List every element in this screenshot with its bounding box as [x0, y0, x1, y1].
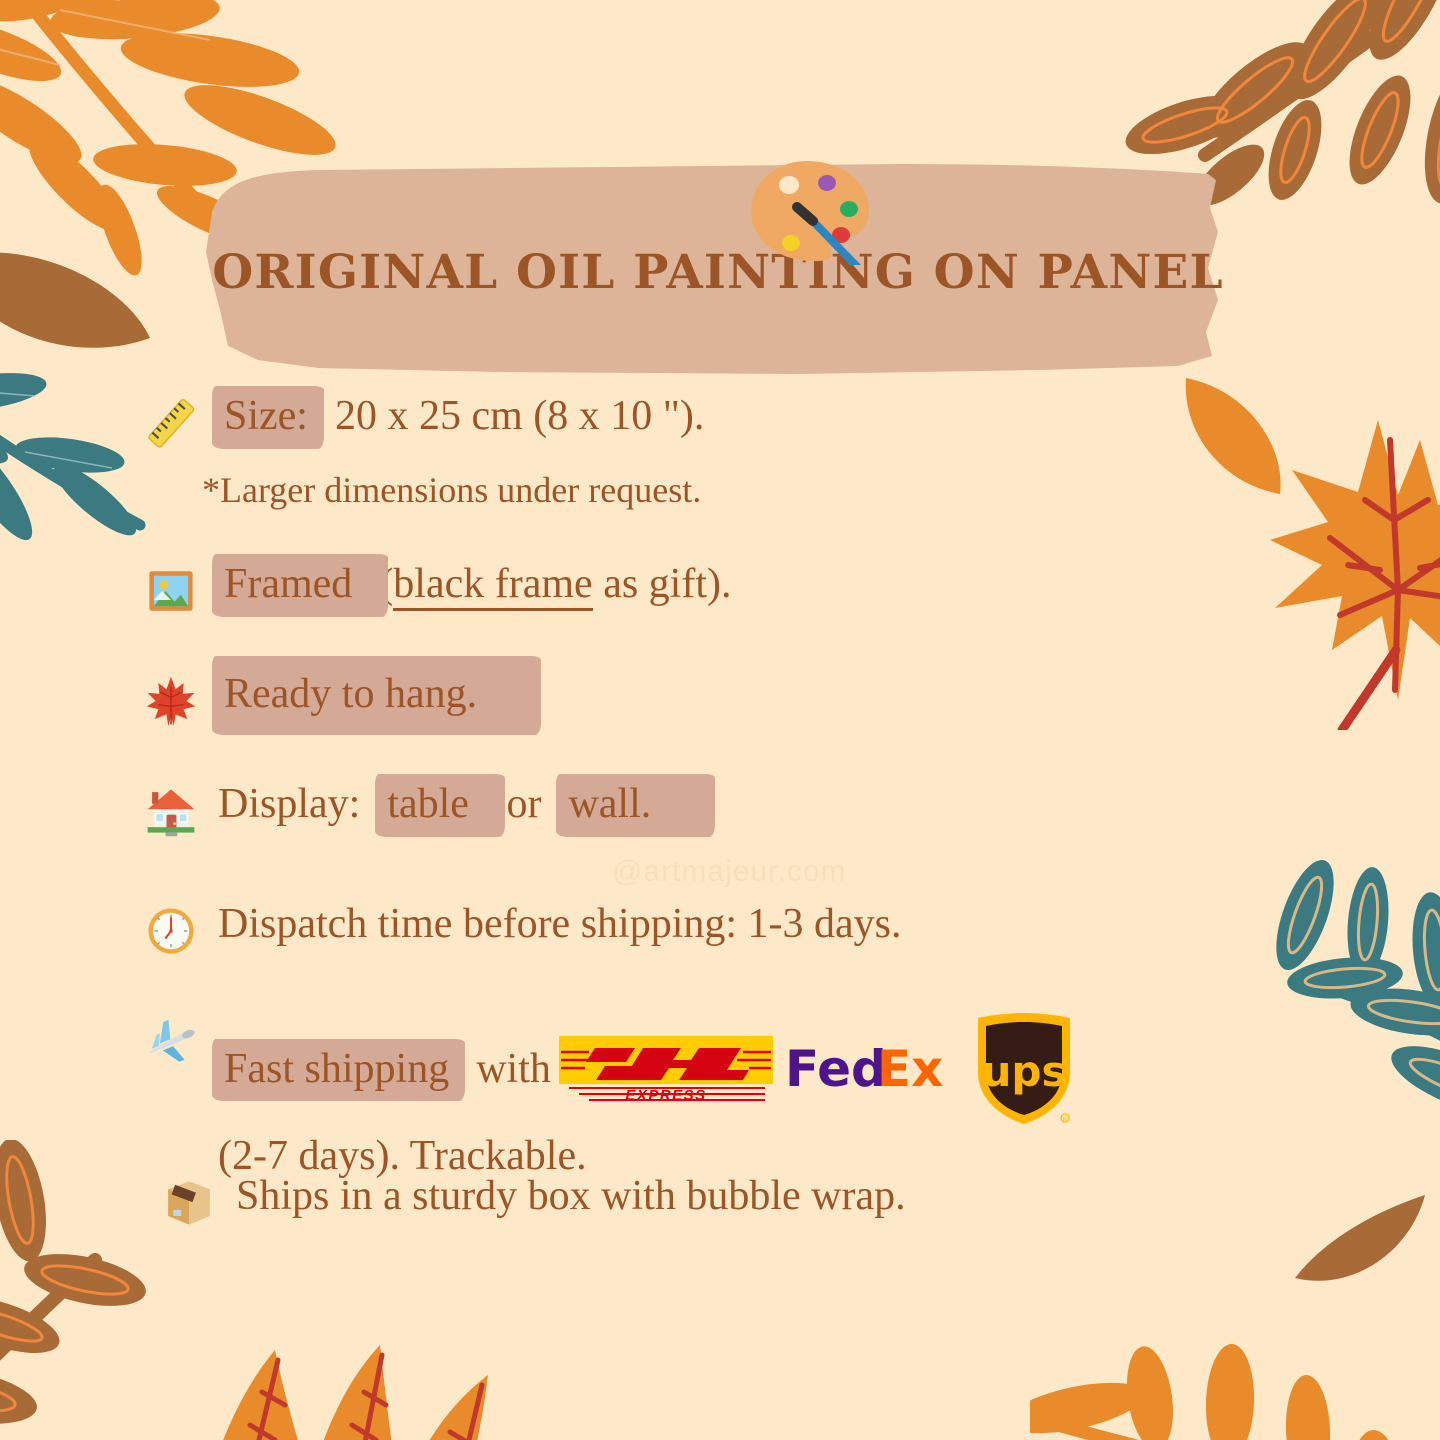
- list-item-size: Size: 20 x 25 cm (8 x 10 ").: [0, 392, 704, 454]
- fast-shipping-highlight: Fast shipping: [218, 1045, 455, 1094]
- note-spacer-icon: [140, 470, 202, 532]
- framed-tail: as gift).: [593, 561, 732, 607]
- framed-text: Framed (black frame as gift).: [202, 560, 731, 609]
- svg-text:R: R: [1063, 1116, 1067, 1123]
- list-item-framed: Framed (black frame as gift).: [0, 560, 731, 622]
- title-banner: ORIGINAL OIL PAINTING ON PANEL: [198, 160, 1238, 385]
- leaf-branch-orange-bottom-right: [1030, 1290, 1440, 1440]
- list-item-size-note: *Larger dimensions under request.: [0, 470, 701, 532]
- leaf-orange-right-small: [1168, 372, 1298, 502]
- framed-picture-icon: [140, 560, 202, 622]
- leaf-brown-left: [0, 240, 175, 380]
- fedex-logo: Fed Ex: [783, 1038, 961, 1100]
- ups-logo: ups R: [971, 1010, 1077, 1128]
- dispatch-text: Dispatch time before shipping: 1-3 days.: [202, 900, 902, 949]
- watermark-text: @artmajeur.com: [612, 855, 847, 889]
- packaging-text: Ships in a sturdy box with bubble wrap.: [220, 1172, 906, 1221]
- display-option-table: table: [381, 780, 475, 829]
- svg-text:ups: ups: [981, 1047, 1066, 1096]
- list-item-display: Display: table or wall.: [0, 780, 657, 842]
- clock-icon: [140, 900, 202, 962]
- size-value: 20 x 25 cm (8 x 10 ").: [335, 393, 704, 439]
- carrier-logos: EXPRESS Fed Ex ups: [559, 1010, 1077, 1128]
- ready-to-hang-label: Ready to hang.: [218, 670, 483, 719]
- poster-canvas: ORIGINAL OIL PAINTING ON PANEL @artmajeu…: [0, 0, 1440, 1440]
- artist-palette-icon: [745, 155, 875, 265]
- package-icon: [158, 1172, 220, 1234]
- display-option-wall: wall.: [562, 780, 657, 829]
- list-item-ready-to-hang: Ready to hang.: [0, 670, 483, 732]
- ready-to-hang-text: Ready to hang.: [202, 670, 483, 719]
- svg-text:EXPRESS: EXPRESS: [625, 1087, 706, 1104]
- size-label: Size:: [218, 392, 314, 441]
- framed-underlined: black frame: [393, 561, 592, 611]
- leaf-brown-bottom-right: [1290, 1190, 1430, 1300]
- airplane-icon: [140, 1010, 202, 1072]
- ruler-icon: [140, 392, 202, 454]
- svg-text:Fed: Fed: [785, 1040, 887, 1098]
- fast-shipping-text: Fast shipping with: [202, 1010, 1318, 1181]
- maple-leaf-bottom-center: [180, 1320, 500, 1440]
- page-title: ORIGINAL OIL PAINTING ON PANEL: [198, 160, 1238, 385]
- display-text: Display: table or wall.: [202, 780, 657, 829]
- list-item-fast-shipping: Fast shipping with: [0, 1010, 1318, 1181]
- list-item-dispatch-time: Dispatch time before shipping: 1-3 days.: [0, 900, 902, 962]
- maple-leaf-icon: [140, 670, 202, 732]
- svg-text:Ex: Ex: [877, 1040, 943, 1098]
- fast-shipping-with: with: [476, 1045, 551, 1094]
- list-item-packaging: Ships in a sturdy box with bubble wrap.: [0, 1172, 906, 1234]
- size-text: Size: 20 x 25 cm (8 x 10 ").: [202, 392, 704, 441]
- framed-label: Framed: [218, 560, 358, 609]
- dhl-logo: EXPRESS: [559, 1030, 773, 1108]
- house-icon: [140, 780, 202, 842]
- display-conjunction: or: [506, 781, 541, 827]
- display-prefix: Display:: [218, 781, 360, 827]
- maple-leaf-right-large: [1270, 400, 1440, 730]
- size-note-text: *Larger dimensions under request.: [202, 470, 701, 512]
